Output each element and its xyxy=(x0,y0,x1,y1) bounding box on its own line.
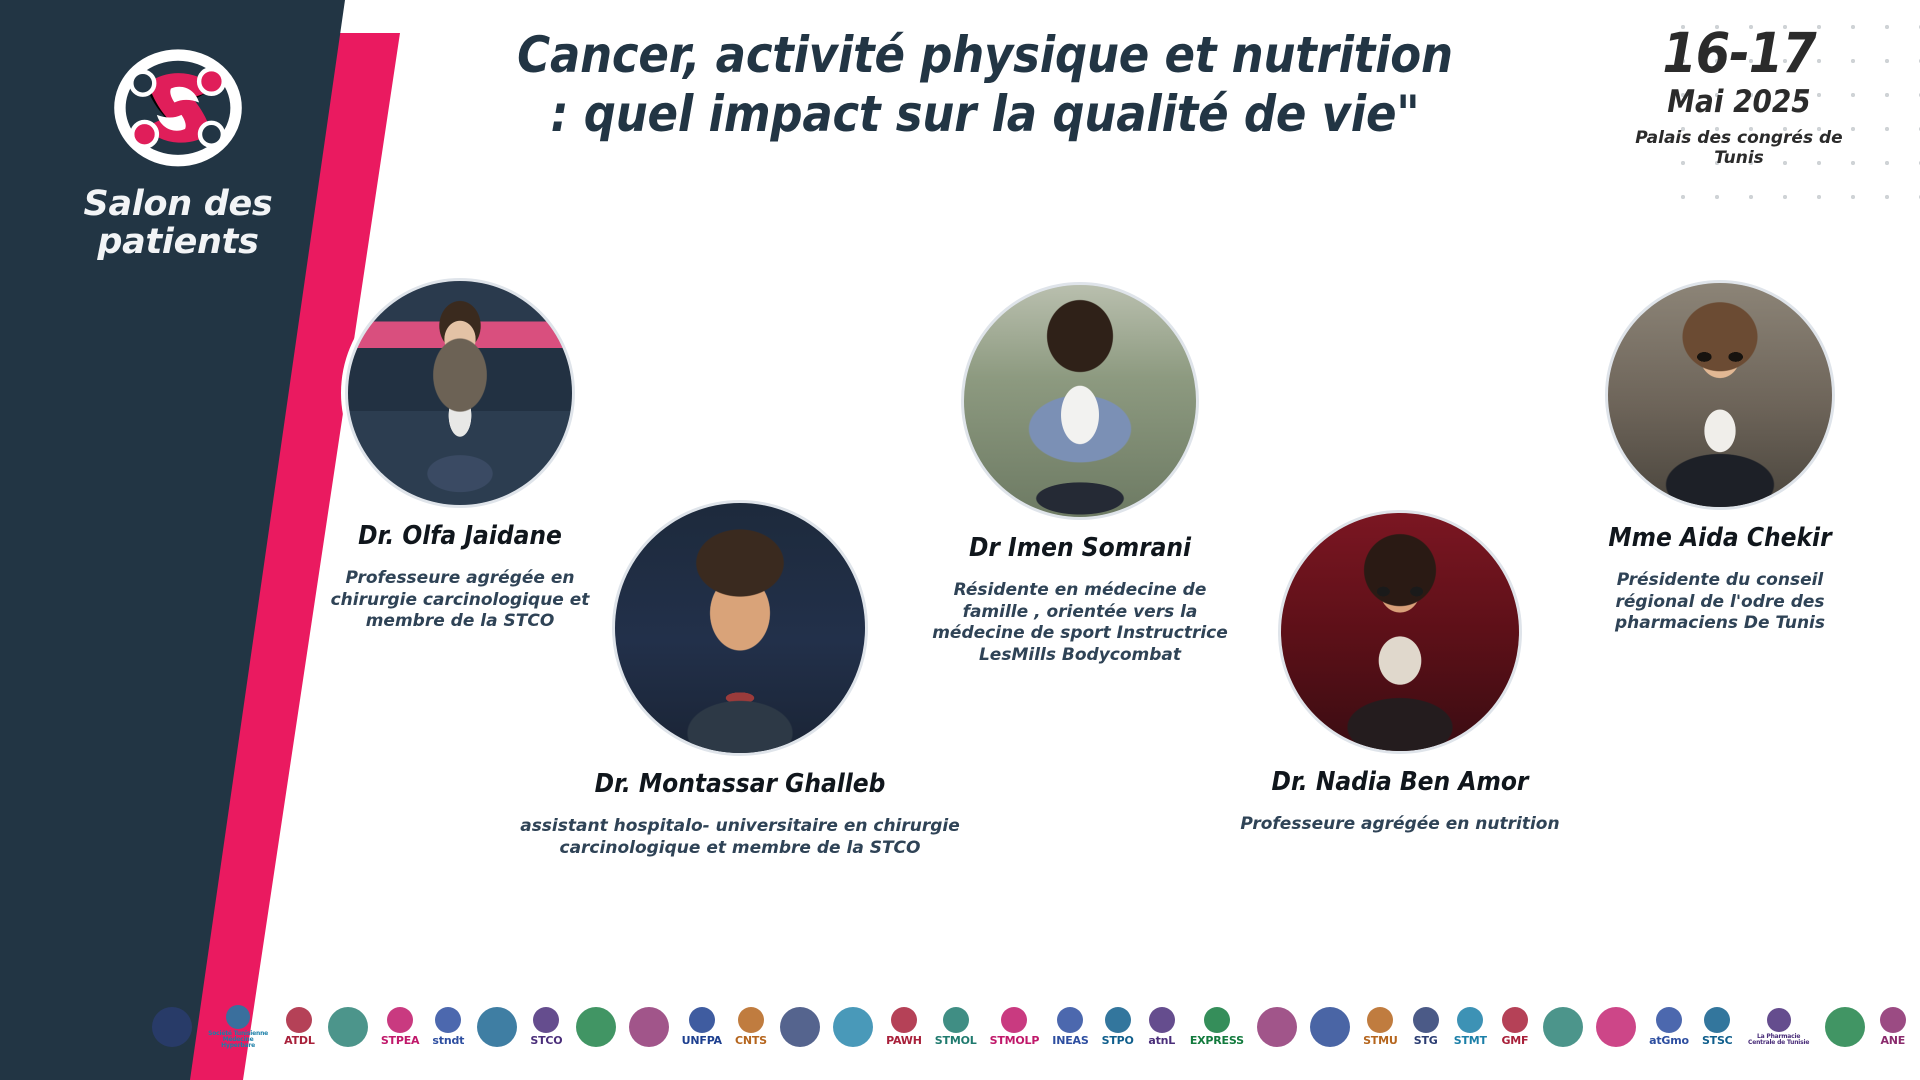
stmol-logo: STMOL xyxy=(933,997,979,1057)
cnts-logo: CNTS xyxy=(733,997,769,1057)
people-circle-logo-icon xyxy=(104,48,252,180)
syndicat-tunisien-logo xyxy=(831,997,875,1057)
event-venue-line1: Palais des congrés de xyxy=(1614,128,1864,149)
speaker-card-chekir: Mme Aida Chekir Présidente du conseil ré… xyxy=(1520,280,1920,635)
event-date-block: 16-17 Mai 2025 Palais des congrés de Tun… xyxy=(1614,26,1864,169)
poster-root: Salon des patients Cancer, activité phys… xyxy=(0,0,1920,1080)
stmolp-logo: STMOLP xyxy=(988,997,1042,1057)
speaker-photo-jaidane xyxy=(345,278,575,508)
speaker-role: Présidente du conseil régional de l'odre… xyxy=(1520,570,1920,635)
stpea-circle-logo: STPEA xyxy=(379,997,422,1057)
speaker-name: Dr. Montassar Ghalleb xyxy=(500,770,980,800)
speaker-name: Mme Aida Chekir xyxy=(1520,524,1920,554)
runner-emblem-logo xyxy=(150,997,194,1057)
gmf-flower-logo: GMF xyxy=(1498,997,1532,1057)
event-venue: Palais des congrés de Tunis xyxy=(1614,128,1864,169)
blue-arabic-calligraphy-logo xyxy=(1541,997,1585,1057)
caduceus-molecule-logo: Société Tunisienne Médecine Hyperbare xyxy=(203,997,273,1057)
stsc-logo: STSC xyxy=(1700,997,1735,1057)
trident-symbol-logo xyxy=(574,997,618,1057)
brand-name-line2: patients xyxy=(28,224,328,262)
ineas-logo: INEAS xyxy=(1050,997,1090,1057)
speaker-name: Dr. Nadia Ben Amor xyxy=(1155,768,1645,798)
pawh-logo: PAWH xyxy=(884,997,924,1057)
event-days: 16-17 xyxy=(1614,26,1864,81)
brand-block: Salon des patients xyxy=(28,48,328,262)
stethoscope-crest-logo xyxy=(475,997,519,1057)
arabic-society-line-logo xyxy=(778,997,822,1057)
brand-name-line1: Salon des xyxy=(28,186,328,224)
title-line-1: Cancer, activité physique et nutrition xyxy=(455,26,1515,85)
small-globe-logo xyxy=(1594,997,1638,1057)
atdl-profile-logo: ATDL xyxy=(282,997,317,1057)
speaker-photo-chekir xyxy=(1605,280,1835,510)
event-title: Cancer, activité physique et nutrition :… xyxy=(455,26,1515,144)
speaker-role: Professeure agrégée en nutrition xyxy=(1155,814,1645,836)
partner-logo-strip: Société Tunisienne Médecine HyperbareATD… xyxy=(150,988,1910,1066)
speaker-photo-ghalleb xyxy=(612,500,868,756)
speaker-role: assistant hospitalo- universitaire en ch… xyxy=(500,816,980,860)
speaker-photo-somrani xyxy=(961,282,1199,520)
stpo-logo: STPO xyxy=(1100,997,1136,1057)
blue-face-emblem-logo xyxy=(627,997,671,1057)
family-in-hands-logo xyxy=(326,997,370,1057)
red-caduceus-logo xyxy=(1308,997,1352,1057)
event-month-year: Mai 2025 xyxy=(1614,83,1864,122)
speaker-photo-benamor xyxy=(1278,510,1522,754)
stco-bird-logo: STCO xyxy=(528,997,564,1057)
stg-swirl-logo: STG xyxy=(1409,997,1443,1057)
pharmacie-centrale-logo: La Pharmacie Centrale de Tunisie xyxy=(1744,997,1814,1057)
stmt-gear-logo: STMT xyxy=(1452,997,1489,1057)
unfpa-logo: UNFPA xyxy=(680,997,724,1057)
stmu-pulse-logo: STMU xyxy=(1361,997,1400,1057)
atnl-logo: atnL xyxy=(1145,997,1179,1057)
stndt-map-logo: stndt xyxy=(430,997,466,1057)
gold-circular-crest-logo xyxy=(1255,997,1299,1057)
ane-association-logo: ANE xyxy=(1876,997,1910,1057)
atgmo-clover-logo: atGmo xyxy=(1647,997,1691,1057)
green-leaf-circle-logo xyxy=(1823,997,1867,1057)
event-venue-line2: Tunis xyxy=(1614,148,1864,169)
title-line-2: : quel impact sur la qualité de vie" xyxy=(455,85,1515,144)
express-equalizer-logo: EXPRESS xyxy=(1188,997,1246,1057)
